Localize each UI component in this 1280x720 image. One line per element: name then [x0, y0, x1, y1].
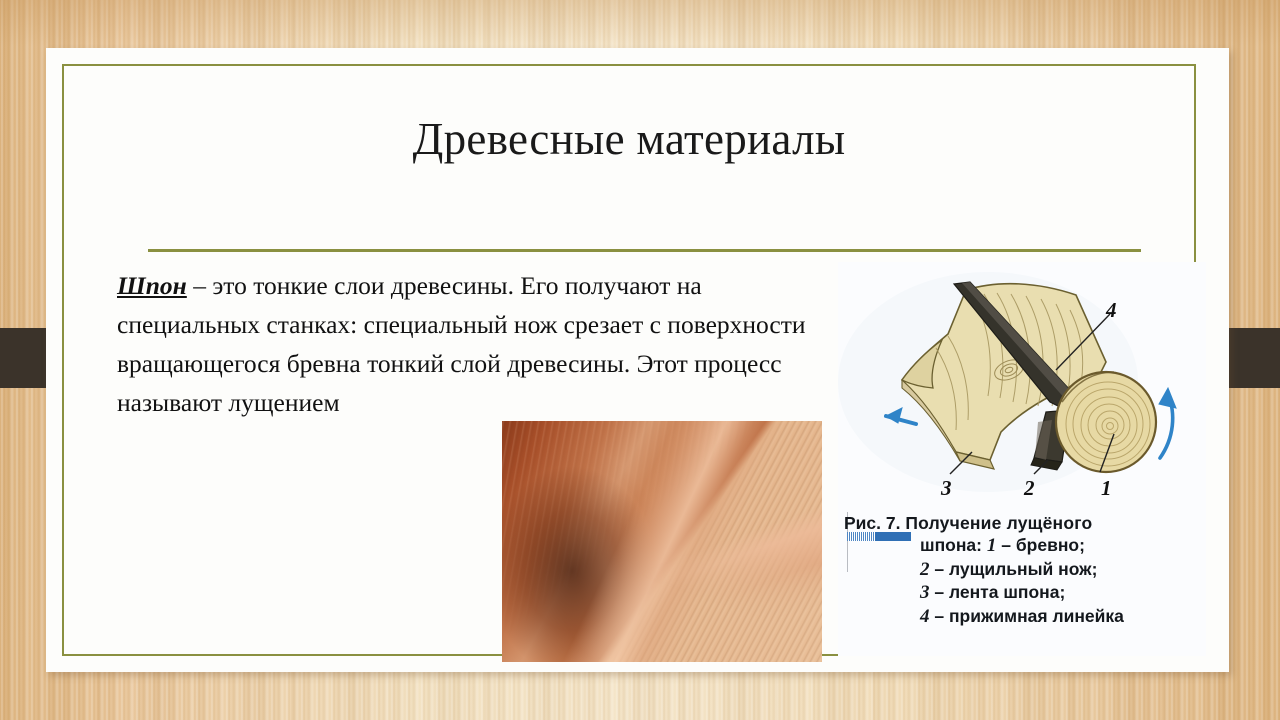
- textbook-figure: 1 2 3 4 Рис. 7. Получение лущёного шпона…: [838, 262, 1206, 656]
- caption-line-2: шпона: 1 – бревно;: [920, 534, 1200, 558]
- callout-2: 2: [1024, 476, 1035, 501]
- caption-item-1-text: бревно;: [1016, 535, 1085, 555]
- caption-item-2-text: лущильный нож;: [949, 559, 1097, 579]
- body-term-shpon: Шпон: [117, 271, 187, 300]
- caption-item-4-num: 4: [920, 606, 930, 627]
- caption-line-5: 4 – прижимная линейка: [920, 605, 1200, 629]
- caption-item-2-num: 2: [920, 559, 930, 580]
- figure-caption: Рис. 7. Получение лущёного шпона: 1 – бр…: [844, 512, 1200, 628]
- callout-1: 1: [1101, 476, 1112, 501]
- body-paragraph-text: – это тонкие слои древесины. Его получаю…: [117, 271, 806, 417]
- page-title: Древесные материалы: [62, 113, 1196, 165]
- caption-item-2-dash: –: [934, 559, 944, 579]
- body-paragraph: Шпон – это тонкие слои древесины. Его по…: [117, 266, 817, 422]
- caption-figure-label: Рис. 7.: [844, 513, 900, 533]
- caption-item-1-num: 1: [987, 535, 997, 556]
- caption-item-4-dash: –: [934, 606, 944, 626]
- caption-figure-title: Получение лущёного: [905, 513, 1092, 533]
- slide-canvas: Древесные материалы Шпон – это тонкие сл…: [0, 0, 1280, 720]
- veneer-roll-photo: [502, 421, 822, 662]
- caption-item-3-text: лента шпона;: [949, 582, 1065, 602]
- caption-line-4: 3 – лента шпона;: [920, 581, 1200, 605]
- caption-item-4-text: прижимная линейка: [949, 606, 1124, 626]
- caption-line-3: 2 – лущильный нож;: [920, 558, 1200, 582]
- caption-item-3-num: 3: [920, 582, 930, 603]
- scan-barcode-mark: [847, 532, 911, 541]
- caption-item-3-dash: –: [934, 582, 944, 602]
- photo-top-grain-layer: [502, 421, 822, 662]
- caption-line2-prefix: шпона:: [920, 535, 982, 555]
- caption-first-line: Рис. 7. Получение лущёного: [844, 512, 1200, 534]
- callout-4: 4: [1106, 298, 1117, 323]
- veneer-peeling-diagram: [838, 262, 1206, 512]
- title-divider: [148, 249, 1141, 252]
- callout-3: 3: [941, 476, 952, 501]
- caption-item-1-dash: –: [1001, 535, 1011, 555]
